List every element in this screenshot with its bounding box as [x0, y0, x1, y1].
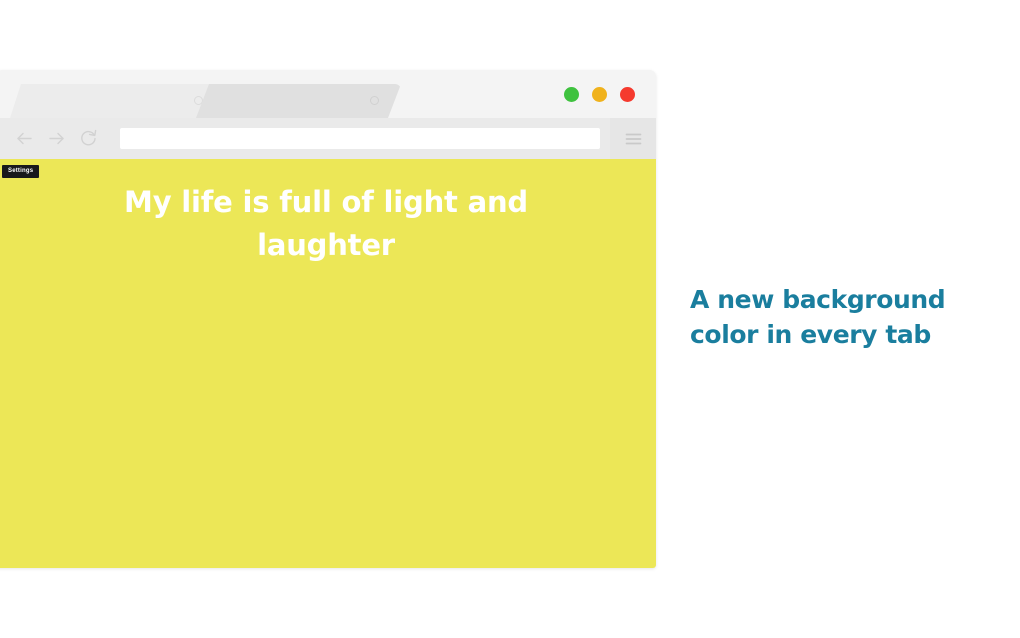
maximize-dot[interactable]: [592, 87, 607, 102]
browser-window-mockup: Settings My life is full of light and la…: [0, 70, 656, 568]
navigation-toolbar: [0, 118, 656, 159]
browser-tab-background[interactable]: [10, 84, 225, 118]
caption-text: A new background color in every tab: [690, 283, 990, 352]
tab-shape: [10, 84, 225, 118]
close-dot[interactable]: [620, 87, 635, 102]
back-arrow-icon[interactable]: [8, 123, 40, 155]
settings-badge[interactable]: Settings: [2, 165, 39, 178]
url-input[interactable]: [120, 128, 600, 149]
page-content-area: Settings My life is full of light and la…: [0, 159, 656, 568]
minimize-dot[interactable]: [564, 87, 579, 102]
page-headline: My life is full of light and laughter: [116, 181, 536, 267]
close-icon[interactable]: [370, 96, 379, 105]
hamburger-menu-icon[interactable]: [610, 118, 656, 159]
reload-icon[interactable]: [72, 123, 104, 155]
tab-strip: [0, 70, 656, 118]
window-controls: [564, 87, 635, 102]
forward-arrow-icon[interactable]: [40, 123, 72, 155]
browser-tab-active[interactable]: [196, 84, 401, 118]
